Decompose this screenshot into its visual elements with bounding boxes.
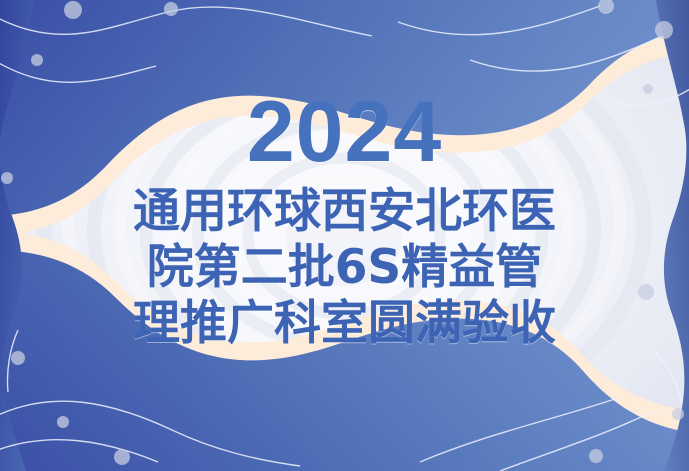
decorative-accents-layer bbox=[0, 0, 689, 471]
poster-canvas: 2024 通用环球西安北环医 院第二批6S精益管 理推广科室圆满验收 bbox=[0, 0, 689, 471]
hairline-curves bbox=[0, 6, 689, 471]
accent-dots bbox=[1, 0, 684, 465]
